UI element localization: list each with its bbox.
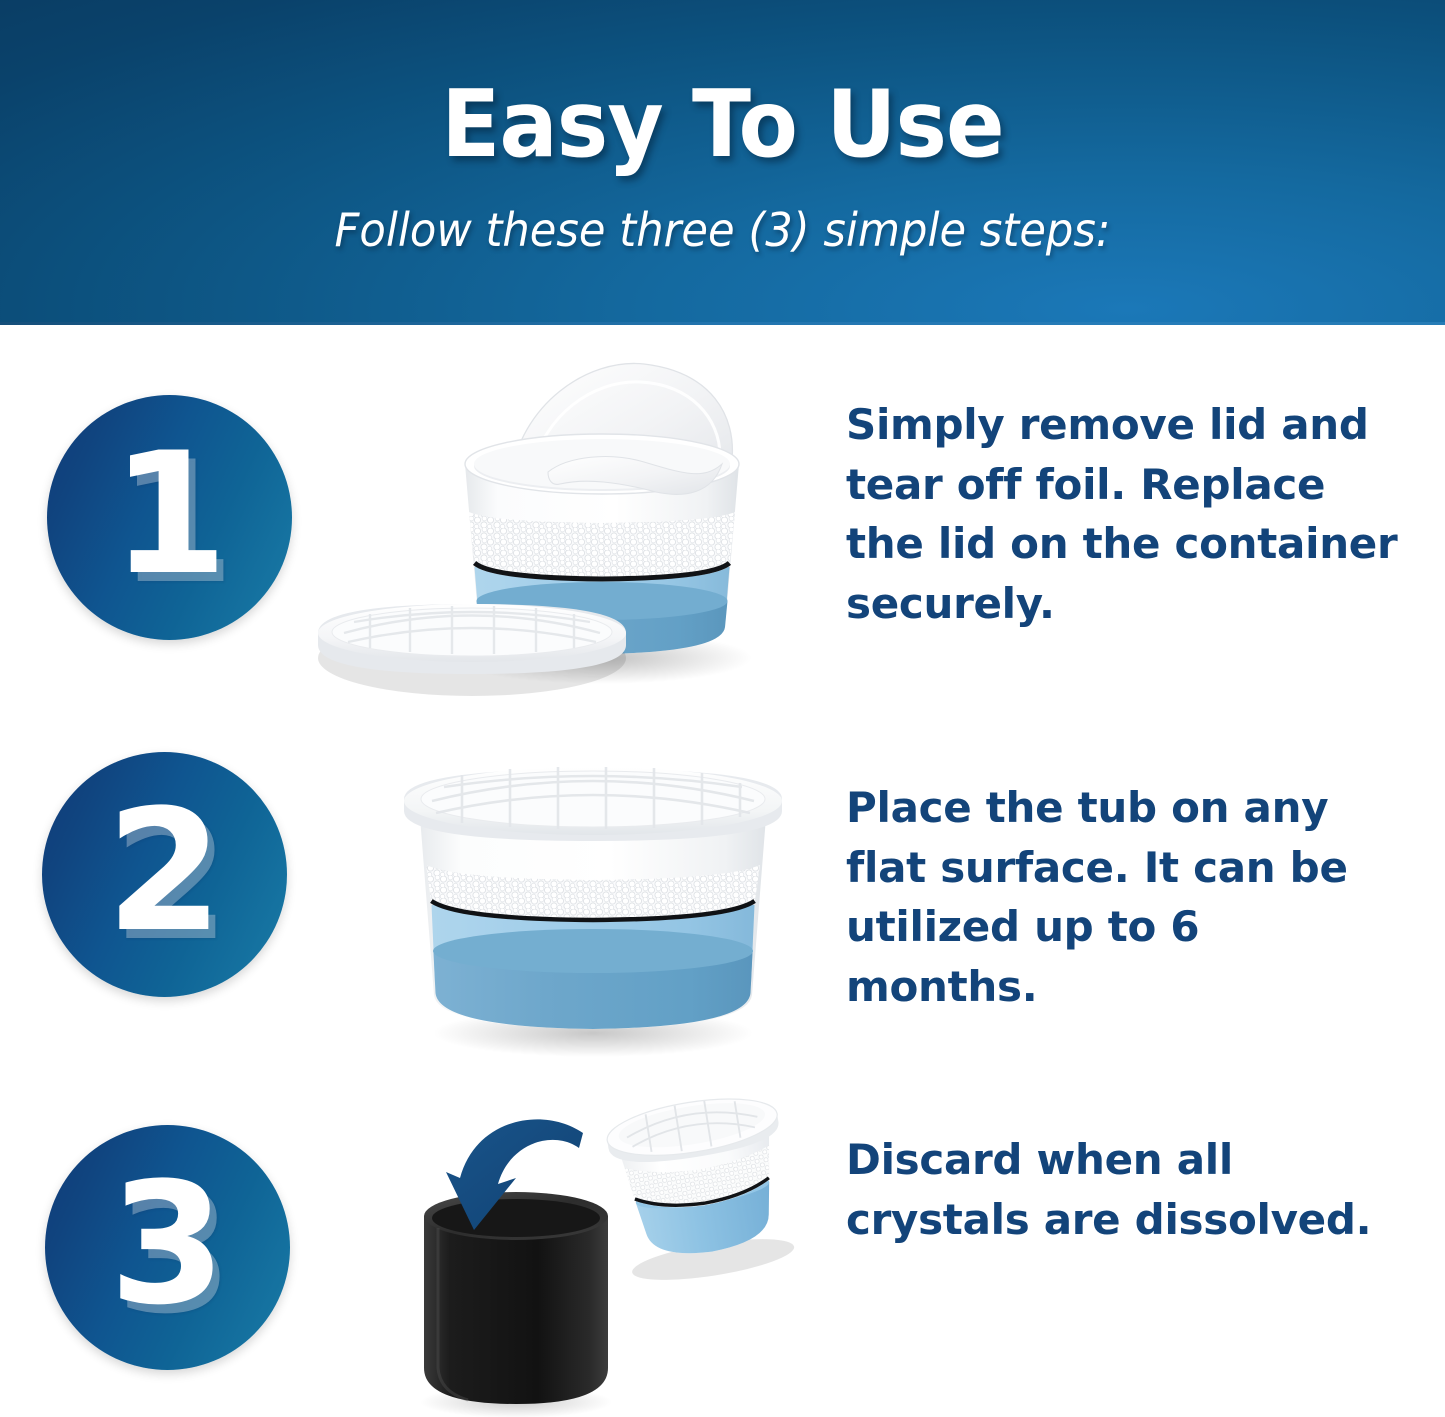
tub-lid	[318, 604, 626, 696]
step-number-badge-3: 3	[45, 1125, 290, 1370]
page-subtitle: Follow these three (3) simple steps:	[43, 207, 1401, 253]
step-number-badge-1: 1	[47, 395, 292, 640]
infographic-page: Easy To Use Follow these three (3) simpl…	[0, 0, 1445, 1417]
header-banner: Easy To Use Follow these three (3) simpl…	[0, 0, 1445, 325]
liquid-surface	[433, 929, 753, 973]
step-number-3: 3	[45, 1125, 290, 1370]
tub-lid-closed	[404, 767, 782, 841]
step-number-badge-2: 2	[42, 752, 287, 997]
step-illustration-3	[398, 1100, 788, 1417]
tilted-tub	[603, 1089, 800, 1289]
step-description-2: Place the tub on any flat surface. It ca…	[846, 778, 1394, 1017]
step-row-2: 2	[0, 730, 1445, 1090]
step-row-1: 1	[0, 350, 1445, 720]
page-title: Easy To Use	[51, 78, 1395, 171]
step-description-3: Discard when all crystals are dissolved.	[846, 1130, 1376, 1249]
step-row-3: 3	[0, 1095, 1445, 1417]
step-number-2: 2	[42, 752, 287, 997]
step-illustration-1	[292, 352, 812, 712]
trash-can	[424, 1192, 608, 1404]
step-number-1: 1	[47, 395, 292, 640]
step-illustration-2	[388, 755, 798, 1060]
step-description-1: Simply remove lid and tear off foil. Rep…	[846, 395, 1402, 634]
